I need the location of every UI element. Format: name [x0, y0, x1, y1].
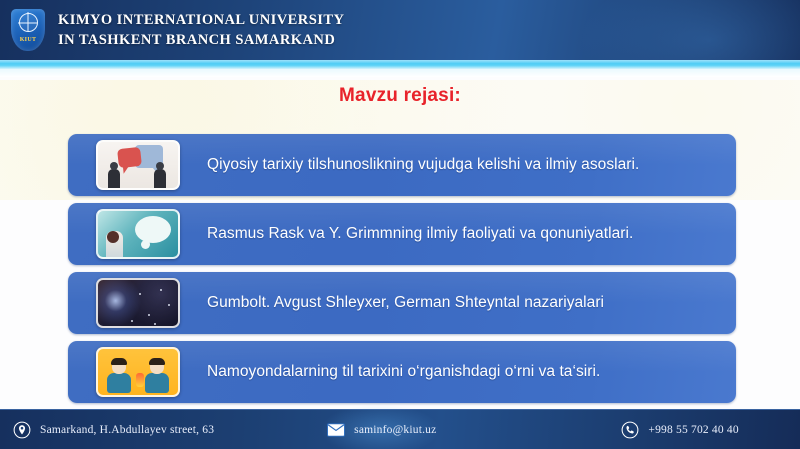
presentation-slide: KIUT KIMYO INTERNATIONAL UNIVERSITY IN T…	[0, 0, 800, 449]
agenda-list: Qiyosiy tarixiy tilshunoslikning vujudga…	[68, 134, 736, 403]
list-item-label: Gumbolt. Avgust Shleyxer, German Shteynt…	[207, 293, 604, 314]
header-accent-fade	[0, 69, 800, 77]
kiut-shield-globe-logo: KIUT	[11, 9, 45, 51]
list-item[interactable]: Qiyosiy tarixiy tilshunoslikning vujudga…	[68, 134, 736, 196]
logo-text: KIUT	[20, 37, 37, 43]
globe-icon	[19, 13, 38, 32]
footer-email-text: saminfo@kiut.uz	[354, 424, 436, 436]
footer-email[interactable]: saminfo@kiut.uz	[326, 420, 436, 440]
list-item[interactable]: Gumbolt. Avgust Shleyxer, German Shteynt…	[68, 272, 736, 334]
envelope-icon	[326, 420, 346, 440]
person-thought-bubble-image	[96, 209, 180, 259]
page-title: Mavzu rejasi:	[0, 85, 800, 107]
list-item-label: Namoyondalarning til tarixini o‘rganishd…	[207, 362, 600, 383]
footer-phone-text: +998 55 702 40 40	[648, 424, 738, 436]
university-name-line1: KIMYO INTERNATIONAL UNIVERSITY	[58, 12, 344, 29]
two-cartoon-people-image	[96, 347, 180, 397]
dialog-speech-bubbles-image	[96, 140, 180, 190]
university-name-line2: IN TASHKENT BRANCH SAMARKAND	[58, 32, 344, 49]
footer-phone[interactable]: +998 55 702 40 40	[620, 420, 738, 440]
header-accent-stripe	[0, 60, 800, 69]
university-logo: KIUT	[0, 0, 56, 60]
phone-icon	[620, 420, 640, 440]
slide-footer: Samarkand, H.Abdullayev street, 63 samin…	[0, 409, 800, 449]
cosmic-space-image	[96, 278, 180, 328]
list-item-label: Qiyosiy tarixiy tilshunoslikning vujudga…	[207, 155, 639, 176]
location-pin-icon	[12, 420, 32, 440]
footer-address-text: Samarkand, H.Abdullayev street, 63	[40, 424, 214, 436]
footer-address: Samarkand, H.Abdullayev street, 63	[12, 420, 214, 440]
slide-header: KIUT KIMYO INTERNATIONAL UNIVERSITY IN T…	[0, 0, 800, 60]
list-item[interactable]: Namoyondalarning til tarixini o‘rganishd…	[68, 341, 736, 403]
header-titles: KIMYO INTERNATIONAL UNIVERSITY IN TASHKE…	[56, 12, 344, 49]
list-item[interactable]: Rasmus Rask va Y. Grimmning ilmiy faoliy…	[68, 203, 736, 265]
list-item-label: Rasmus Rask va Y. Grimmning ilmiy faoliy…	[207, 224, 633, 245]
